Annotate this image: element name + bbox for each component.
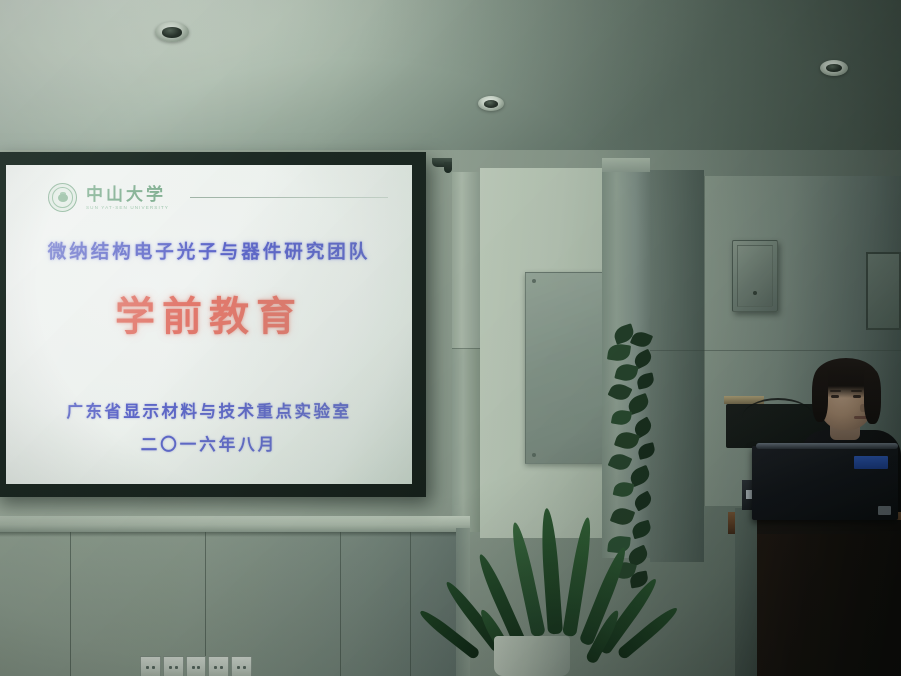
slide-header: 中山大学 SUN YAT-SEN UNIVERSITY	[28, 183, 390, 212]
laboratory-line: 广东省显示材料与技术重点实验室	[28, 398, 390, 422]
presenter-hair-left	[812, 370, 828, 422]
university-name-cn: 中山大学	[86, 186, 169, 203]
cabinet-seam	[410, 532, 411, 676]
wall-speaker-icon	[732, 240, 778, 312]
socket-3[interactable]	[186, 656, 207, 676]
downlight-1-icon	[155, 22, 189, 42]
slide-main-title: 学前教育	[28, 284, 390, 342]
plant-pot	[494, 636, 570, 676]
projection-screen-frame: 中山大学 SUN YAT-SEN UNIVERSITY 微纳结构电子光子与器件研…	[0, 152, 426, 497]
computer-monitor-rear[interactable]	[752, 446, 898, 520]
presentation-slide: 中山大学 SUN YAT-SEN UNIVERSITY 微纳结构电子光子与器件研…	[6, 165, 412, 484]
wall-picture-frame	[866, 252, 901, 330]
university-name-en: SUN YAT-SEN UNIVERSITY	[86, 205, 169, 210]
socket-1[interactable]	[140, 656, 161, 676]
socket-4[interactable]	[208, 656, 229, 676]
monitor-top-edge	[756, 443, 898, 449]
cabinet-seam	[205, 532, 206, 676]
cabinet-seam	[70, 532, 71, 676]
lecture-hall-photo: 中山大学 SUN YAT-SEN UNIVERSITY 微纳结构电子光子与器件研…	[0, 0, 901, 676]
power-socket-strip[interactable]	[140, 656, 252, 676]
wall-pilaster-left-lower	[452, 348, 480, 532]
wall-seam-horizontal	[650, 350, 901, 351]
podium-left-post	[735, 508, 757, 676]
ceiling-shading	[0, 0, 901, 175]
socket-2[interactable]	[163, 656, 184, 676]
socket-5[interactable]	[231, 656, 252, 676]
team-line: 微纳结构电子光子与器件研究团队	[28, 238, 390, 264]
screen-mount-bracket	[432, 158, 452, 167]
monitor-brand-logo	[878, 506, 891, 515]
cabinet-seam	[340, 532, 341, 676]
column-capital	[602, 158, 650, 172]
monitor-sticker	[854, 456, 888, 469]
cabinet-ledge	[0, 516, 470, 532]
wall-seam-vertical	[704, 176, 705, 506]
potted-dracaena-plant	[452, 506, 662, 656]
university-seal-icon	[48, 183, 77, 212]
projection-screen-surface: 中山大学 SUN YAT-SEN UNIVERSITY 微纳结构电子光子与器件研…	[6, 165, 412, 484]
downlight-3-icon	[820, 60, 848, 76]
presenter-hair-right	[864, 370, 881, 424]
podium-body	[740, 534, 901, 676]
date-line: 二〇一六年八月	[28, 431, 390, 455]
downlight-2-icon	[478, 96, 504, 111]
header-rule	[190, 197, 388, 198]
